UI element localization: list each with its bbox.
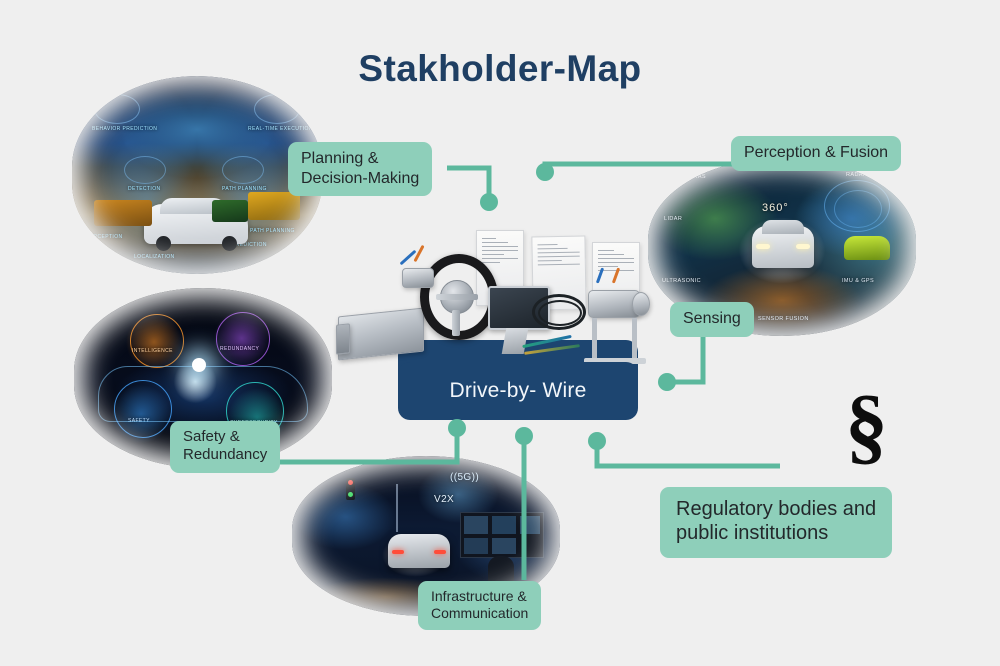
label-regulatory-bodies[interactable]: Regulatory bodies and public institution… [660,487,892,558]
micro-label: Localization [134,254,175,260]
connector-dot-infrastructure [515,427,533,445]
connector-sensing [672,334,703,382]
micro-label: Behavior Prediction [92,126,157,132]
planning-decision-making-image: Behavior Prediction Real-Time Execution … [72,76,322,274]
micro-label: INTELLIGENCE [132,348,173,354]
micro-label: CAMERAS [676,174,706,180]
label-perception-fusion[interactable]: Perception & Fusion [731,136,901,171]
micro-label-v2x: V2X [434,494,454,505]
section-sign-icon: § [845,382,888,468]
connector-dot-planning [480,193,498,211]
micro-label: LIDAR [664,216,682,222]
micro-label: SENSOR FUSION [758,316,809,322]
drive-by-wire-hub[interactable]: Drive-by- Wire [398,362,638,420]
label-sensing[interactable]: Sensing [670,302,754,337]
label-planning-decision-making[interactable]: Planning & Decision-Making [288,142,432,196]
drive-by-wire-label: Drive-by- Wire [450,379,587,403]
micro-label: Prediction [232,242,267,248]
connector-dot-sensing [658,373,676,391]
micro-label: Perception [86,234,123,240]
label-infrastructure-communication[interactable]: Infrastructure & Communication [418,581,541,630]
micro-label: Path Planning [222,186,267,192]
micro-label: Real-Time Execution [248,126,313,132]
micro-label: Path Planning [250,228,295,234]
connector-planning [447,168,489,200]
stakeholder-map-canvas: Stakholder-Map Behavior Prediction Real-… [0,0,1000,666]
micro-label: REDUNDANCY [220,346,259,352]
label-safety-redundancy[interactable]: Safety & Redundancy [170,421,280,473]
micro-label: Detection [128,186,161,192]
connector-dot-safety [448,419,466,437]
micro-label: RADAR [846,172,867,178]
micro-label: SAFETY [128,418,150,424]
micro-label: IMU & GPS [842,278,874,284]
connector-regulatory [597,440,780,466]
micro-label-5g: ((5G)) [450,472,479,483]
connector-dot-perception [536,163,554,181]
connector-dot-regulatory [588,432,606,450]
micro-label: ULTRASONIC [662,278,701,284]
micro-label-360: 360° [762,202,789,214]
